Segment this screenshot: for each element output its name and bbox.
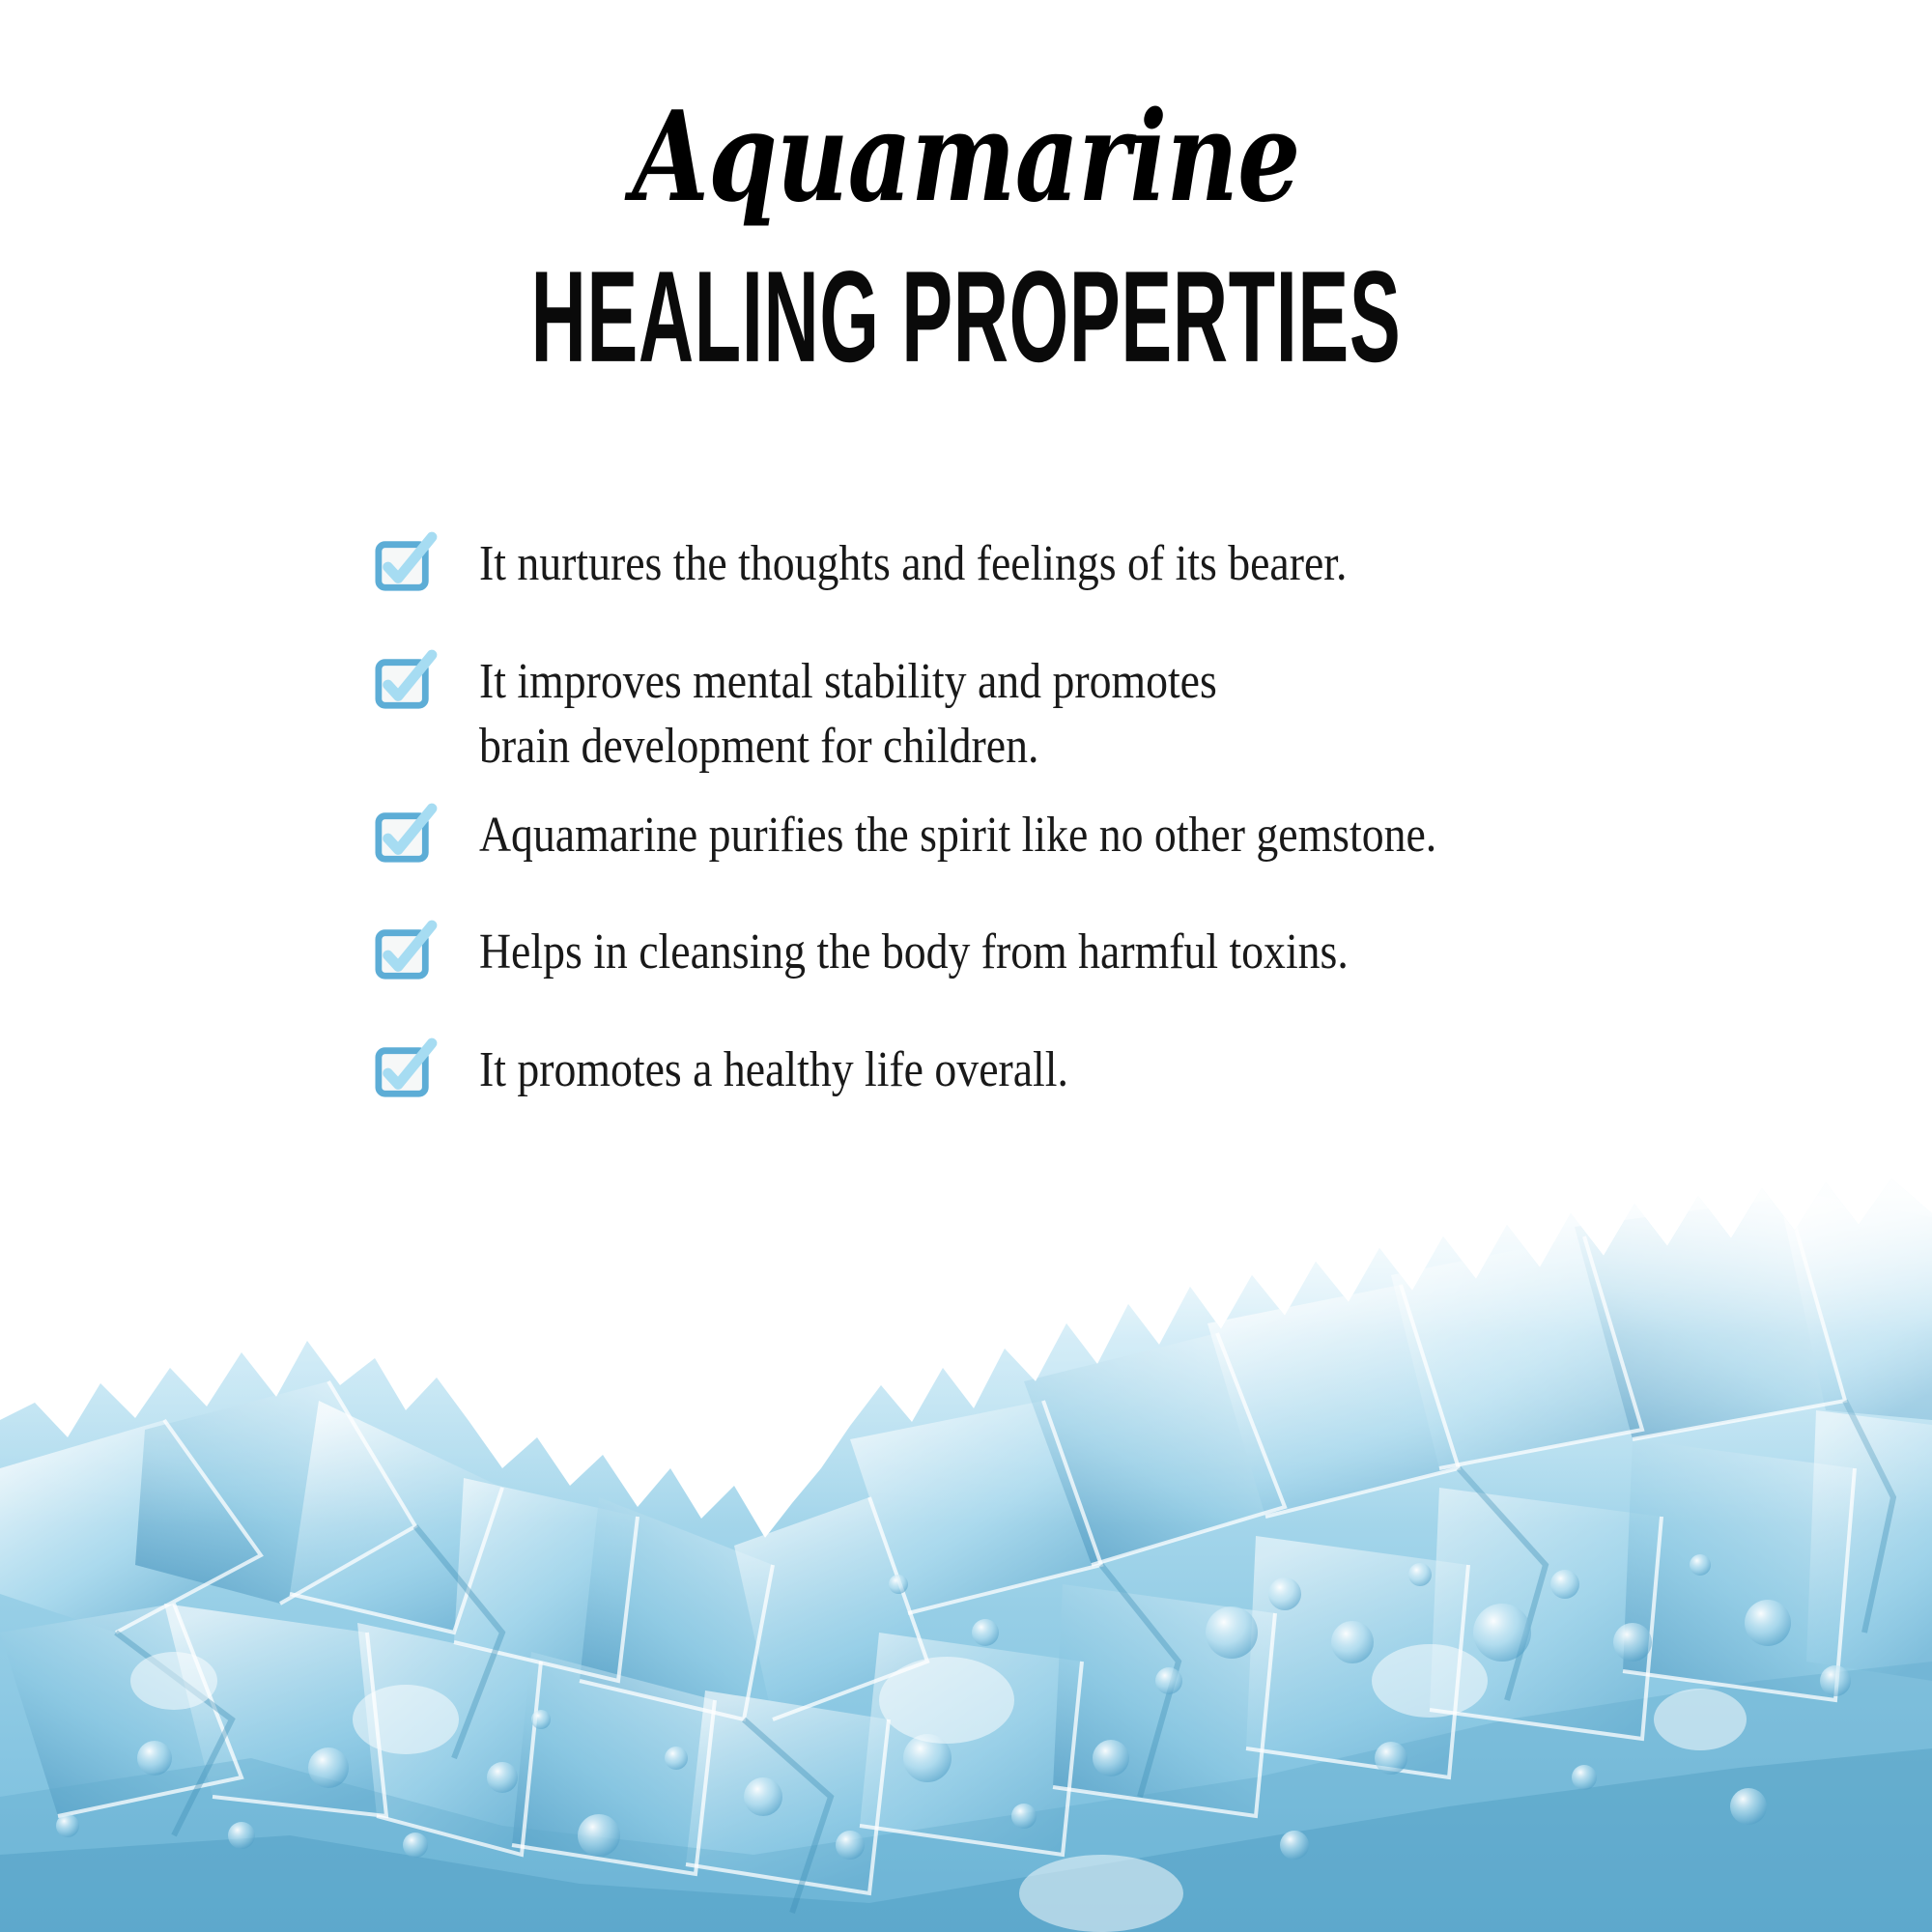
list-item: Helps in cleansing the body from harmful… [375, 918, 1882, 985]
list-item-label: It improves mental stability and promote… [479, 647, 1217, 780]
poster-canvas: Aquamarine HEALING PROPERTIES It nurture… [0, 0, 1932, 1932]
checked-checkbox-icon [375, 807, 435, 867]
crushed-ice-photo [0, 1179, 1932, 1932]
list-item: It promotes a healthy life overall. [375, 1036, 1882, 1103]
list-item-label: It nurtures the thoughts and feelings of… [479, 529, 1347, 597]
healing-properties-list: It nurtures the thoughts and feelings of… [375, 529, 1882, 1153]
header-block: Aquamarine HEALING PROPERTIES [0, 93, 1932, 375]
list-item: It improves mental stability and promote… [375, 647, 1882, 780]
page-subtitle: HEALING PROPERTIES [328, 252, 1604, 382]
list-item-label: Helps in cleansing the body from harmful… [479, 918, 1349, 985]
list-item-label: It promotes a healthy life overall. [479, 1036, 1068, 1103]
checked-checkbox-icon [375, 653, 435, 713]
list-item: It nurtures the thoughts and feelings of… [375, 529, 1882, 597]
checked-checkbox-icon [375, 923, 435, 983]
checked-checkbox-icon [375, 535, 435, 595]
ice-body [0, 1179, 1932, 1932]
list-item: Aquamarine purifies the spirit like no o… [375, 801, 1882, 868]
checked-checkbox-icon [375, 1041, 435, 1101]
list-item-label: Aquamarine purifies the spirit like no o… [479, 801, 1436, 868]
page-title: Aquamarine [193, 93, 1739, 222]
